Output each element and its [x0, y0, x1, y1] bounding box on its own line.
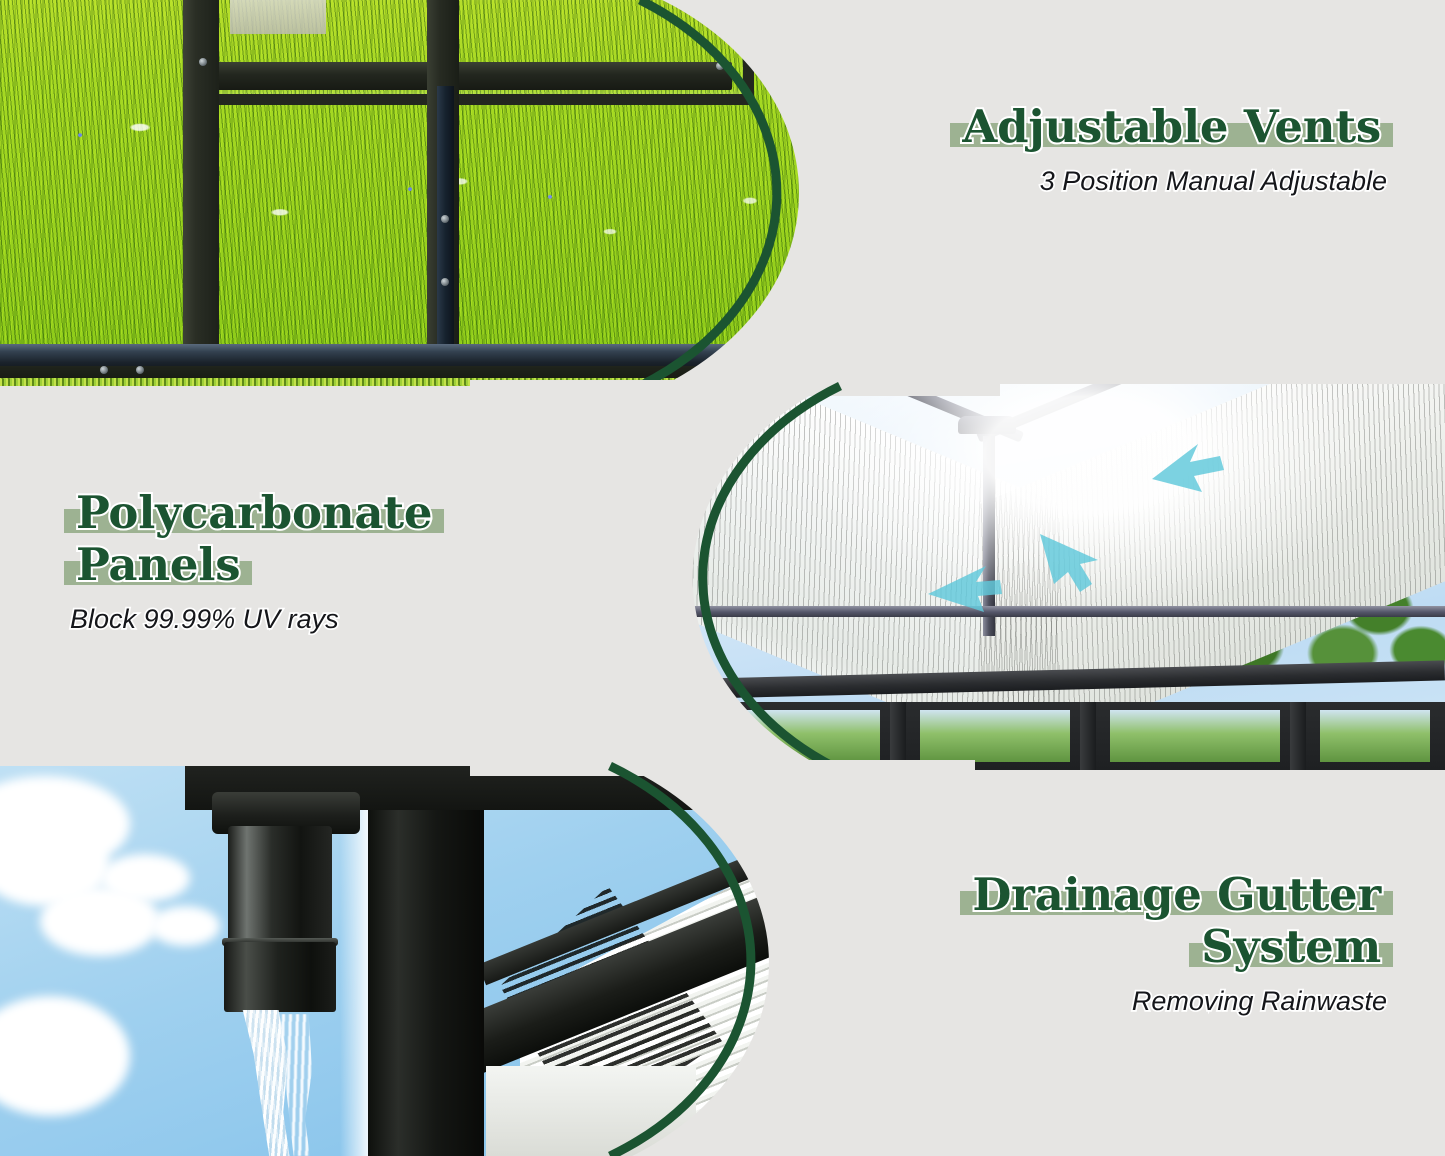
feature-title-line: System [1195, 924, 1387, 970]
airflow-arrow-up-right-icon [1152, 444, 1224, 492]
cloud [100, 854, 190, 902]
downspout-lower [224, 942, 336, 1012]
feature-subtitle: Block 99.99% UV rays [70, 604, 438, 635]
screw-icon [100, 366, 108, 374]
feature-title-line: Drainage Gutter [966, 872, 1387, 918]
feature-title-line: Polycarbonate [70, 490, 438, 536]
screw-icon [760, 1058, 771, 1069]
corner-post [368, 766, 484, 1156]
infographic-root: Adjustable Vents 3 Position Manual Adjus… [0, 0, 1445, 1156]
feature-image-adjustable-vents [0, 0, 1000, 386]
airflow-arrow-up-right-icon [928, 566, 1002, 612]
cloud [150, 906, 220, 946]
feature-subtitle: 3 Position Manual Adjustable [956, 166, 1387, 197]
feature-title-line: Adjustable Vents [956, 104, 1387, 150]
feature-title-text: System [1201, 920, 1381, 973]
feature-image-polycarbonate-panels [480, 384, 1445, 770]
feature-title-text: Drainage Gutter [972, 868, 1381, 921]
airflow-arrow-down-right-icon [1040, 534, 1098, 592]
feature-title-text: Adjustable Vents [962, 100, 1381, 153]
screw-icon [716, 62, 724, 70]
feature-text-adjustable-vents: Adjustable Vents 3 Position Manual Adjus… [956, 104, 1387, 197]
screw-icon [136, 366, 144, 374]
screw-icon [199, 58, 207, 66]
downspout-upper [228, 826, 332, 944]
airflow-arrow-group [480, 384, 1445, 770]
feature-title-line: Panels [70, 542, 246, 588]
feature-image-drainage-gutter [0, 766, 965, 1156]
feature-title-text: Panels [76, 538, 240, 591]
feature-text-drainage-gutter: Drainage Gutter System Removing Rainwast… [966, 872, 1387, 1017]
screw-icon [441, 278, 449, 286]
bright-opening [486, 1066, 696, 1156]
frame-post-left [183, 0, 219, 350]
vent-top-bar [192, 62, 732, 90]
feature-subtitle: Removing Rainwaste [966, 986, 1387, 1017]
screw-icon [441, 215, 449, 223]
feature-title-text: Polycarbonate [76, 486, 432, 539]
feature-text-polycarbonate-panels: Polycarbonate Panels Block 99.99% UV ray… [70, 490, 438, 635]
